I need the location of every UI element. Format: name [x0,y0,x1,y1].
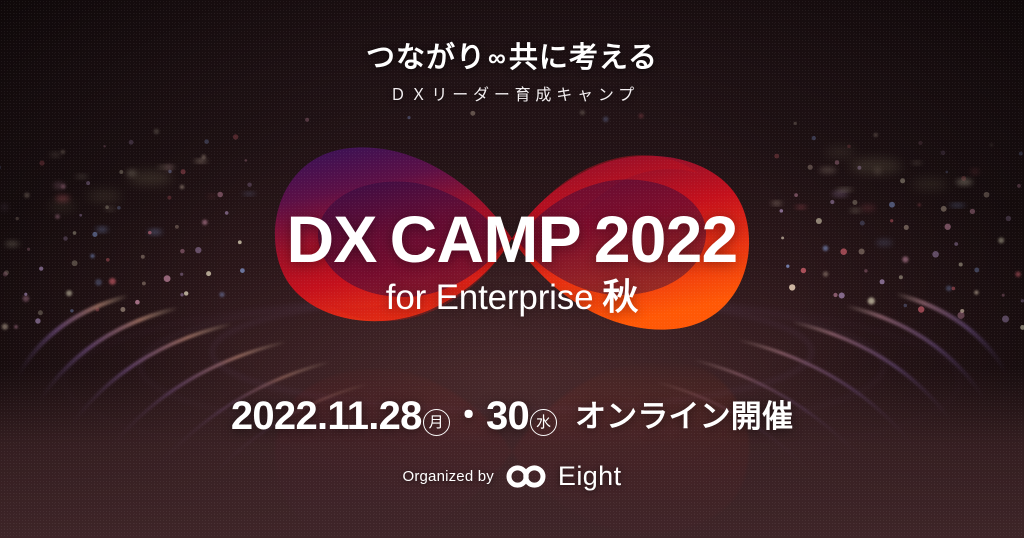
tagline: つながり∞共に考える [0,44,1024,73]
eight-infinity-logo-icon [505,465,547,488]
edition-season: 秋 [593,276,638,317]
organized-by-label: Organized by [403,469,494,484]
dow-start-badge: 月 [423,409,450,436]
event-date-line: 2022.11.28月・30水オンライン開催 [0,396,1024,436]
page-title: DXCAMP2022 [0,206,1024,272]
title-dx: DX [287,202,377,276]
title-camp: CAMP [390,202,581,276]
event-venue: オンライン開催 [558,399,793,434]
subtitle: ＤＸリーダー育成キャンプ [0,88,1024,104]
infinity-glyph-icon: ∞ [486,44,509,72]
tagline-pre: つながり [366,42,486,74]
footer-credit: Organized by Eight [0,463,1024,490]
tagline-post: 共に考える [509,42,658,74]
date-start: 2022.11.28 [231,394,422,438]
hero-banner: つながり∞共に考える ＤＸリーダー育成キャンプ DXCAMP2022 for E… [0,0,1024,538]
date-end: 30 [486,394,529,438]
dow-end-badge: 水 [530,409,557,436]
edition-line: for Enterprise秋 [0,279,1024,315]
title-year: 2022 [594,202,738,276]
date-separator: ・ [451,397,486,435]
edition-text: for Enterprise [386,278,594,317]
brand-name: Eight [558,463,622,490]
